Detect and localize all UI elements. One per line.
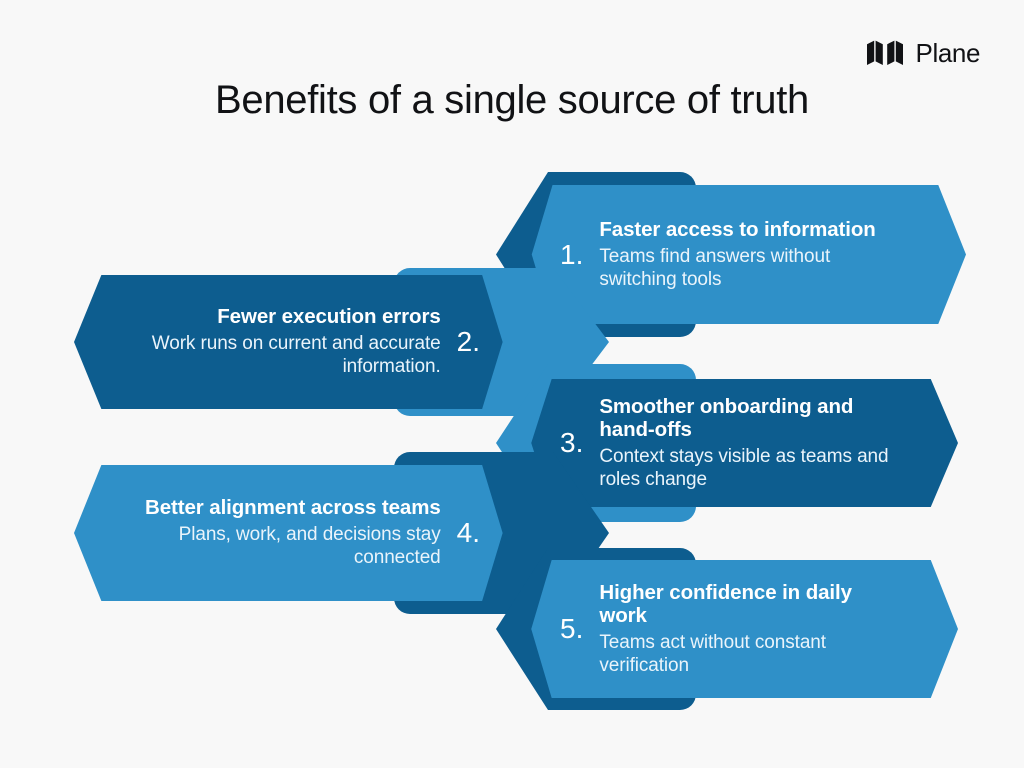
benefit-item-4-description: Plans, work, and decisions stay connecte… xyxy=(134,523,441,569)
benefit-item-5-text-group: Higher confidence in daily workTeams act… xyxy=(599,581,896,678)
benefit-item-5[interactable]: 5.Higher confidence in daily workTeams a… xyxy=(496,548,958,710)
benefit-item-2-description: Work runs on current and accurate inform… xyxy=(134,332,441,378)
benefit-item-4-number: 4. xyxy=(457,519,480,547)
benefit-item-3-text-group: Smoother onboarding and hand-offsContext… xyxy=(599,395,896,492)
benefit-item-5-description: Teams act without constant verification xyxy=(599,631,896,677)
benefit-item-4-text-group: Better alignment across teamsPlans, work… xyxy=(134,496,441,569)
benefit-item-4[interactable]: 4.Better alignment across teamsPlans, wo… xyxy=(74,452,540,614)
benefit-item-2-number: 2. xyxy=(457,328,480,356)
benefit-item-5-title: Higher confidence in daily work xyxy=(599,581,896,629)
benefits-diagram: 1.Faster access to informationTeams find… xyxy=(0,0,1024,768)
benefit-item-2-content: 2.Fewer execution errorsWork runs on cur… xyxy=(74,275,530,409)
benefit-item-1-number: 1. xyxy=(560,241,583,269)
benefit-item-1-title: Faster access to information xyxy=(599,218,904,242)
benefit-item-5-number: 5. xyxy=(560,615,583,643)
benefit-item-1-text-group: Faster access to informationTeams find a… xyxy=(599,218,904,291)
benefit-item-5-content: 5.Higher confidence in daily workTeams a… xyxy=(504,560,958,698)
benefit-item-1-description: Teams find answers without switching too… xyxy=(599,245,904,291)
benefit-item-4-title: Better alignment across teams xyxy=(134,496,441,520)
benefit-item-3-number: 3. xyxy=(560,429,583,457)
benefit-item-2[interactable]: 2.Fewer execution errorsWork runs on cur… xyxy=(74,268,540,416)
benefit-item-4-content: 4.Better alignment across teamsPlans, wo… xyxy=(74,465,530,601)
benefit-item-2-title: Fewer execution errors xyxy=(134,305,441,329)
benefit-item-3-title: Smoother onboarding and hand-offs xyxy=(599,395,896,443)
benefit-item-3-description: Context stays visible as teams and roles… xyxy=(599,445,896,491)
benefit-item-2-text-group: Fewer execution errorsWork runs on curre… xyxy=(134,305,441,378)
